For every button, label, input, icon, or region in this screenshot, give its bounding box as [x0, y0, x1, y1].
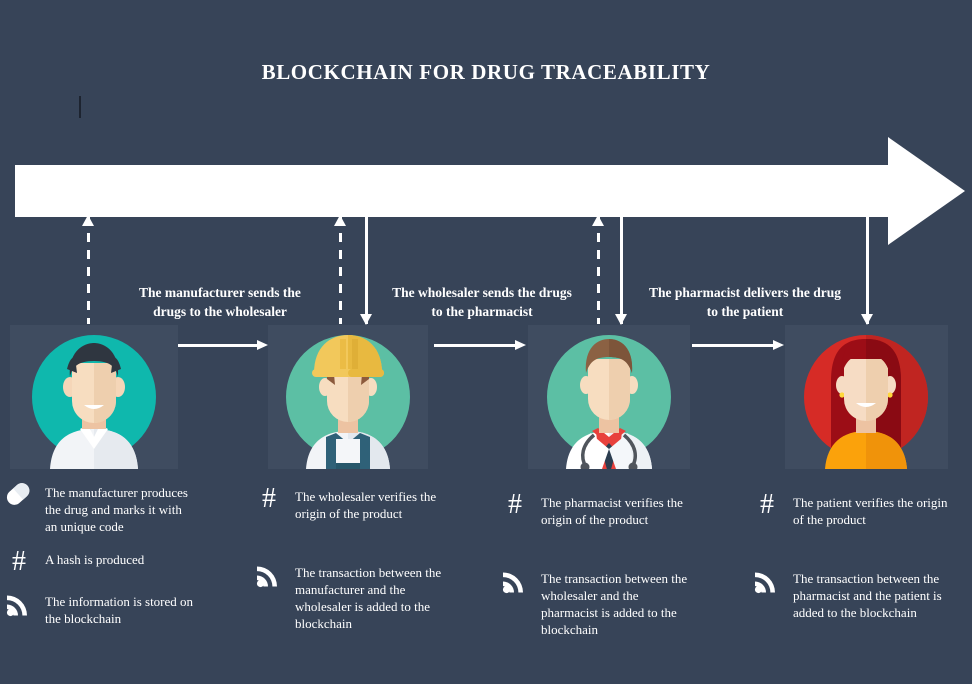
avatar-wholesaler [268, 325, 428, 469]
arrow-down-icon [861, 314, 873, 325]
arrow-right-icon [257, 340, 268, 350]
connector-down-solid-2 [620, 216, 623, 324]
page-title: BLOCKCHAIN FOR DRUG TRACEABILITY [0, 60, 972, 85]
hash-icon: # [4, 549, 34, 575]
pill-icon [4, 482, 34, 509]
actor-card-wholesaler[interactable] [268, 325, 428, 469]
flow-label-1: The manufacturer sends the drugs to the … [123, 283, 317, 321]
connector-up-dashed-1 [87, 216, 90, 324]
actor-card-manufacturer[interactable] [10, 325, 178, 469]
broadcast-icon [4, 591, 34, 617]
list-item-text: The transaction between the pharmacist a… [793, 568, 948, 621]
hash-glyph: # [262, 486, 276, 512]
connector-up-dashed-3 [597, 216, 600, 324]
broadcast-icon [752, 568, 782, 594]
flow-label-3: The pharmacist delivers the drug to the … [640, 283, 850, 321]
list-item-text: The transaction between the manufacturer… [295, 562, 450, 632]
hash-glyph: # [508, 492, 522, 518]
list-item: The transaction between the wholesaler a… [500, 568, 692, 638]
flow-label-1-line1: The manufacturer sends the [123, 283, 317, 302]
list-item: The transaction between the pharmacist a… [752, 568, 948, 621]
flow-label-2-line2: to the pharmacist [383, 302, 581, 321]
list-item-text: A hash is produced [45, 549, 144, 568]
list-item-text: The transaction between the wholesaler a… [541, 568, 692, 638]
connector-stem [339, 216, 342, 324]
connector-down-solid-3 [866, 216, 869, 324]
connector-stem [620, 216, 623, 324]
hash-icon: # [752, 492, 782, 518]
connector-down-solid-1 [365, 216, 368, 324]
flow-label-2: The wholesaler sends the drugs to the ph… [383, 283, 581, 321]
connector-stem [87, 216, 90, 324]
avatar-patient [785, 325, 948, 469]
text-cursor-mark [79, 96, 81, 118]
list-item: # The patient verifies the origin of the… [752, 492, 948, 528]
timeline-arrow-head [888, 137, 965, 245]
hash-glyph: # [12, 549, 26, 575]
list-item: # The wholesaler verifies the origin of … [254, 486, 450, 522]
transfer-arrow-3 [692, 340, 784, 351]
broadcast-icon [254, 562, 284, 588]
connector-stem [597, 216, 600, 324]
arrow-up-icon [592, 215, 604, 226]
hash-icon: # [254, 486, 284, 512]
broadcast-icon [500, 568, 530, 594]
bullet-list-patient: # The patient verifies the origin of the… [752, 492, 948, 635]
arrow-right-icon [773, 340, 784, 350]
avatar-pharmacist [528, 325, 690, 469]
bullet-list-manufacturer: The manufacturer produces the drug and m… [4, 482, 194, 641]
actor-card-pharmacist[interactable] [528, 325, 690, 469]
flow-label-2-line1: The wholesaler sends the drugs [383, 283, 581, 302]
hash-glyph: # [760, 492, 774, 518]
arrow-up-icon [334, 215, 346, 226]
list-item: The transaction between the manufacturer… [254, 562, 450, 632]
bullet-list-pharmacist: # The pharmacist verifies the origin of … [500, 492, 692, 652]
bullet-list-wholesaler: # The wholesaler verifies the origin of … [254, 486, 450, 646]
list-item-text: The patient verifies the origin of the p… [793, 492, 948, 528]
timeline-arrow-shaft [15, 165, 890, 217]
connector-stem [365, 216, 368, 324]
list-item: # The pharmacist verifies the origin of … [500, 492, 692, 528]
hash-icon: # [500, 492, 530, 518]
flow-label-3-line2: to the patient [640, 302, 850, 321]
arrow-up-icon [82, 215, 94, 226]
timeline-arrow [15, 165, 965, 217]
connector-up-dashed-2 [339, 216, 342, 324]
arrow-right-icon [515, 340, 526, 350]
transfer-arrow-2 [434, 340, 526, 351]
transfer-arrow-line [178, 344, 257, 347]
list-item-text: The information is stored on the blockch… [45, 591, 194, 627]
actor-card-patient[interactable] [785, 325, 948, 469]
arrow-down-icon [360, 314, 372, 325]
arrow-down-icon [615, 314, 627, 325]
flow-label-3-line1: The pharmacist delivers the drug [640, 283, 850, 302]
transfer-arrow-line [434, 344, 515, 347]
transfer-arrow-1 [178, 340, 268, 351]
list-item-text: The manufacturer produces the drug and m… [45, 482, 194, 535]
flow-label-1-line2: drugs to the wholesaler [123, 302, 317, 321]
infographic-canvas: BLOCKCHAIN FOR DRUG TRACEABILITY The man… [0, 0, 972, 684]
list-item-text: The wholesaler verifies the origin of th… [295, 486, 450, 522]
list-item-text: The pharmacist verifies the origin of th… [541, 492, 692, 528]
list-item: The manufacturer produces the drug and m… [4, 482, 194, 535]
list-item: The information is stored on the blockch… [4, 591, 194, 627]
list-item: # A hash is produced [4, 549, 194, 575]
connector-stem [866, 216, 869, 324]
transfer-arrow-line [692, 344, 773, 347]
avatar-manufacturer [10, 325, 178, 469]
